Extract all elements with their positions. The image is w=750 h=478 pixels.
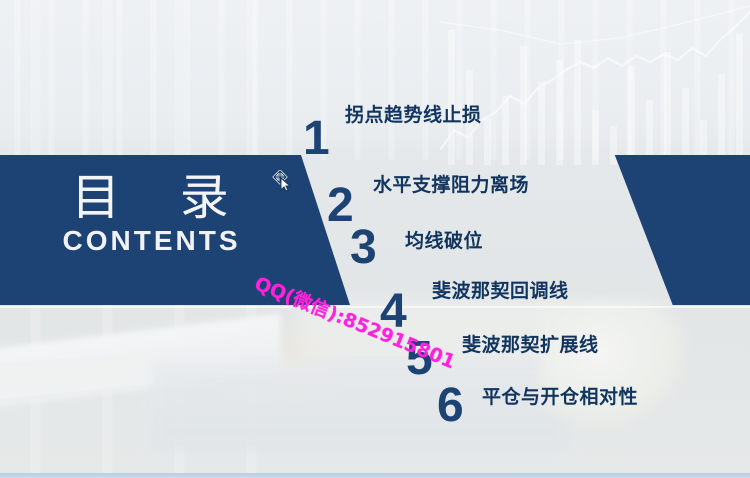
background-bottom-strip <box>0 473 750 478</box>
contents-item-1[interactable]: 拐点趋势线止损 <box>345 100 482 127</box>
contents-number-1: 1 <box>303 115 330 163</box>
background-stock-chart <box>440 0 750 165</box>
contents-number-3: 3 <box>350 224 377 272</box>
presentation-slide: 目 录 CONTENTS 1 2 3 4 5 6 拐点趋势线止损 水平支撑阻力离… <box>0 0 750 478</box>
contents-item-4[interactable]: 斐波那契回调线 <box>432 276 569 303</box>
title-chinese: 目 录 <box>0 172 300 223</box>
contents-item-3[interactable]: 均线破位 <box>405 226 483 253</box>
contents-number-6: 6 <box>437 382 464 430</box>
page-title: 目 录 CONTENTS <box>0 172 300 257</box>
contents-item-6[interactable]: 平仓与开仓相对性 <box>482 382 638 409</box>
contents-item-5[interactable]: 斐波那契扩展线 <box>462 330 599 357</box>
title-english: CONTENTS <box>0 225 300 257</box>
background-cup-blur <box>540 300 690 430</box>
background-highlight-line <box>0 306 750 308</box>
move-cursor-icon <box>272 170 294 192</box>
contents-item-2[interactable]: 水平支撑阻力离场 <box>373 170 529 197</box>
